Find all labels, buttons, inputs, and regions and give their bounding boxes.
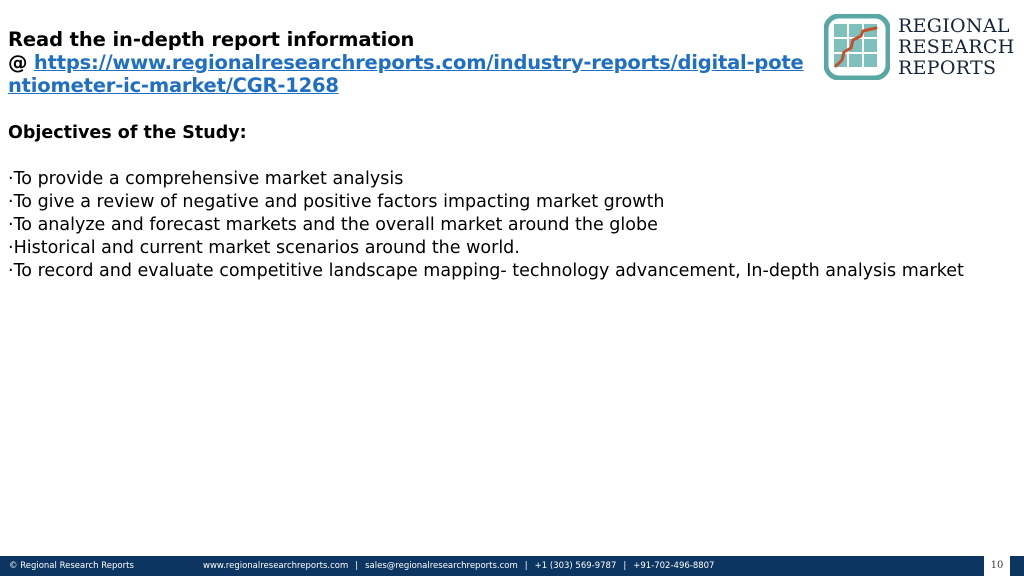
- list-item-text: Historical and current market scenarios …: [14, 238, 520, 258]
- list-item-text: To record and evaluate competitive lands…: [14, 261, 964, 281]
- brand-logo-text: REGIONAL RESEARCH REPORTS: [898, 16, 1015, 79]
- page-number: 10: [984, 556, 1010, 576]
- footer-separator: |: [616, 561, 633, 571]
- list-item: ·To provide a comprehensive market analy…: [8, 168, 1008, 191]
- list-item: ·To give a review of negative and positi…: [8, 191, 1008, 214]
- objectives-list: ·To provide a comprehensive market analy…: [8, 168, 1008, 283]
- section-heading: Objectives of the Study:: [8, 122, 247, 144]
- footer-website[interactable]: www.regionalresearchreports.com: [203, 561, 348, 571]
- brand-line-3: REPORTS: [898, 58, 1015, 79]
- brand-line-2: RESEARCH: [898, 37, 1015, 58]
- footer-separator: |: [518, 561, 535, 571]
- chart-logo-icon: [824, 14, 890, 80]
- report-url-line: @ https://www.regionalresearchreports.co…: [8, 51, 814, 97]
- brand-line-1: REGIONAL: [898, 16, 1015, 37]
- list-item: ·Historical and current market scenarios…: [8, 237, 1008, 260]
- footer-copyright: © Regional Research Reports: [9, 556, 134, 576]
- report-url-link[interactable]: https://www.regionalresearchreports.com/…: [8, 51, 804, 97]
- slide-canvas: REGIONAL RESEARCH REPORTS Read the in-de…: [0, 0, 1024, 576]
- footer-phone-in: +91-702-496-8807: [633, 561, 714, 571]
- footer-contact-info: www.regionalresearchreports.com|sales@re…: [203, 556, 714, 576]
- list-item-text: To give a review of negative and positiv…: [14, 192, 665, 212]
- url-prefix: @: [8, 51, 34, 74]
- footer-separator: |: [348, 561, 365, 571]
- list-item-text: To provide a comprehensive market analys…: [14, 169, 404, 189]
- list-item: ·To analyze and forecast markets and the…: [8, 214, 1008, 237]
- brand-logo: REGIONAL RESEARCH REPORTS: [824, 6, 1020, 88]
- list-item: ·To record and evaluate competitive land…: [8, 260, 1008, 283]
- list-item-text: To analyze and forecast markets and the …: [14, 215, 658, 235]
- slide-footer: © Regional Research Reports www.regional…: [0, 556, 1024, 576]
- footer-email[interactable]: sales@regionalresearchreports.com: [365, 561, 518, 571]
- footer-phone-us: +1 (303) 569-9787: [535, 561, 617, 571]
- page-title: Read the in-depth report information: [8, 28, 818, 51]
